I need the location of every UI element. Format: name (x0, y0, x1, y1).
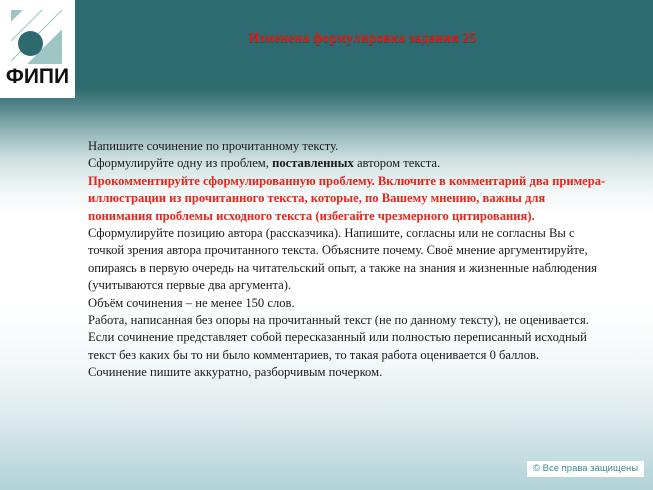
body-line-1: Напишите сочинение по прочитанному текст… (88, 138, 608, 155)
logo-circle-icon (18, 31, 43, 56)
body-line-4: Сформулируйте позицию автора (рассказчик… (88, 225, 608, 295)
page-title: Изменена формулировка задания 25 (80, 30, 645, 46)
body-line-6: Работа, написанная без опоры на прочитан… (88, 312, 608, 364)
logo-edge (62, 10, 66, 64)
body-line-3-highlight: Прокомментируйте сформулированную пробле… (88, 173, 608, 225)
body-line-2-before: Сформулируйте одну из проблем, (88, 156, 272, 170)
body-line-7: Сочинение пишите аккуратно, разборчивым … (88, 364, 608, 381)
body-line-2: Сформулируйте одну из проблем, поставлен… (88, 155, 608, 172)
body-line-2-bold: поставленных (272, 156, 354, 170)
fipi-logo: ФИПИ (0, 0, 75, 98)
body-line-2-after: автором текста. (354, 156, 440, 170)
fipi-logo-text: ФИПИ (0, 64, 75, 90)
copyright-badge: © Все права защищены (527, 461, 644, 477)
fipi-logo-mark-icon (11, 10, 66, 64)
body-line-5: Объём сочинения – не менее 150 слов. (88, 295, 608, 312)
slide-canvas: ФИПИ Изменена формулировка задания 25 На… (0, 0, 653, 490)
slide-body: Напишите сочинение по прочитанному текст… (88, 138, 608, 382)
